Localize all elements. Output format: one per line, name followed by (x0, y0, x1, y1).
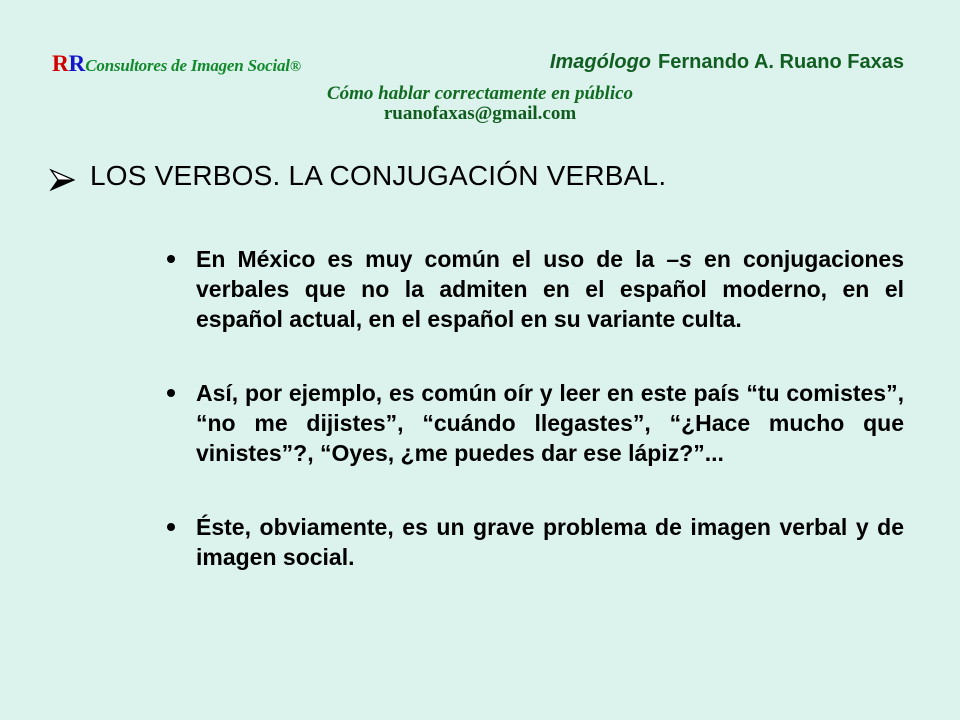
bullet-text-part: En México es muy común el uso de la (196, 246, 666, 272)
registered-mark-icon: ® (290, 59, 301, 75)
section-heading-text: LOS VERBOS. LA CONJUGACIÓN VERBAL. (90, 160, 666, 192)
presentation-slide: ЯRConsultores de Imagen Social® Imagólog… (0, 0, 960, 720)
bullet-emphasis: –s (666, 246, 692, 272)
round-bullet-icon (167, 389, 175, 397)
author-credit: ImagólogoFernando A. Ruano Faxas (550, 52, 904, 72)
author-name: Fernando A. Ruano Faxas (658, 51, 904, 73)
arrow-bullet-icon (48, 165, 78, 195)
list-item: Éste, obviamente, es un grave problema d… (164, 512, 904, 572)
author-role: Imagólogo (550, 51, 651, 73)
bullet-text: En México es muy común el uso de la –s e… (196, 244, 904, 334)
bullet-text: Éste, obviamente, es un grave problema d… (196, 512, 904, 572)
logo-wordmark: Consultores de Imagen Social (85, 56, 290, 75)
list-item: En México es muy común el uso de la –s e… (164, 244, 904, 334)
bullet-text: Así, por ejemplo, es común oír y leer en… (196, 378, 904, 468)
slide-header: ЯRConsultores de Imagen Social® Imagólog… (0, 0, 960, 135)
contact-email: ruanofaxas@gmail.com (0, 104, 960, 125)
round-bullet-icon (167, 255, 175, 263)
round-bullet-icon (167, 523, 175, 531)
list-item: Así, por ejemplo, es común oír y leer en… (164, 378, 904, 468)
brand-logo: ЯRConsultores de Imagen Social® (52, 52, 301, 75)
slide-subtitle: Cómo hablar correctamente en público (0, 84, 960, 105)
bullet-list: En México es muy común el uso de la –s e… (164, 244, 904, 572)
logo-mark-right: R (69, 51, 86, 76)
logo-mark-left: Я (52, 52, 69, 75)
section-heading: LOS VERBOS. LA CONJUGACIÓN VERBAL. (48, 160, 666, 195)
